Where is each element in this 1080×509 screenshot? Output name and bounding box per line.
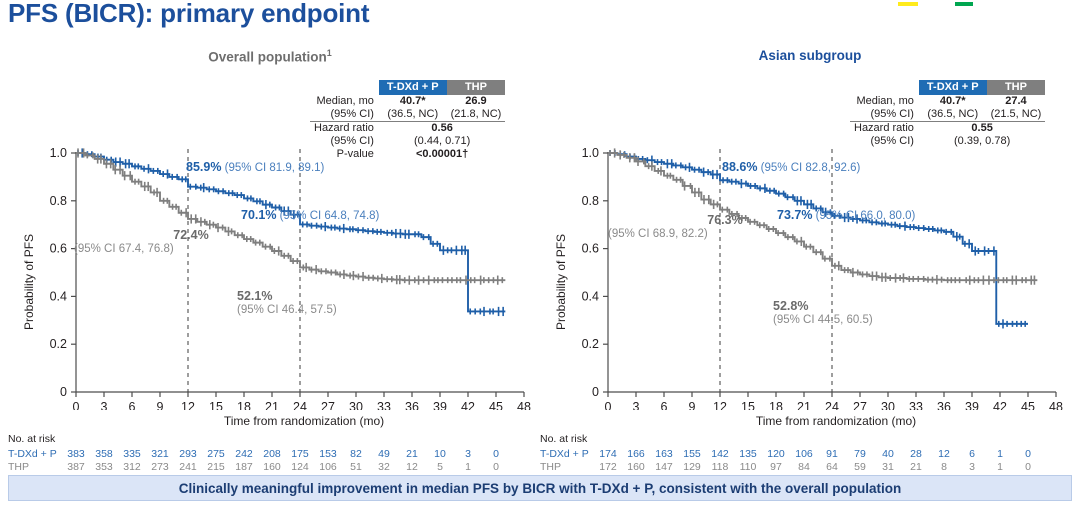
annotation-pct: 76.3%: [707, 213, 742, 227]
svg-text:0.6: 0.6: [582, 242, 599, 256]
svg-text:27: 27: [321, 400, 335, 410]
annotation-24mo-thp-ci-right: (95% CI 44.5, 60.5): [773, 314, 873, 326]
svg-text:48: 48: [517, 400, 531, 410]
svg-text:15: 15: [209, 400, 223, 410]
stats-value-median-ci-a: (36.5, NC): [919, 108, 987, 122]
svg-text:33: 33: [377, 400, 391, 410]
risk-cell: 1: [989, 448, 1011, 460]
risk-cell: 31: [877, 461, 899, 473]
risk-cell: 273: [149, 461, 171, 473]
annotation-pct: 85.9%: [186, 160, 221, 174]
risk-cell: 275: [205, 448, 227, 460]
risk-cell: 142: [709, 448, 731, 460]
svg-text:27: 27: [853, 400, 867, 410]
risk-cell: 21: [401, 448, 423, 460]
risk-cell: 208: [261, 448, 283, 460]
svg-text:39: 39: [433, 400, 447, 410]
panel-title-overall-sup: 1: [327, 48, 332, 58]
risk-cell: 6: [961, 448, 983, 460]
stats-header-row: T-DXd + P THP: [310, 80, 505, 95]
page-title: PFS (BICR): primary endpoint: [8, 0, 369, 29]
svg-text:0.8: 0.8: [50, 194, 67, 208]
stats-header-arm-a: T-DXd + P: [379, 80, 447, 95]
svg-text:3: 3: [101, 400, 108, 410]
risk-cell: 187: [233, 461, 255, 473]
risk-cell: 10: [429, 448, 451, 460]
svg-text:21: 21: [797, 400, 811, 410]
risk-cell: 5: [429, 461, 451, 473]
risk-table-title: No. at risk: [8, 433, 540, 445]
risk-table-overall: No. at risk T-DXd + P THP 38335833532129…: [8, 433, 540, 445]
risk-cell: 8: [933, 461, 955, 473]
annotation-12mo-thp-ci-right: (95% CI 68.9, 82.2): [608, 228, 708, 240]
annotation-12mo-tdxd-left: 85.9% (95% CI 81.9, 89.1): [186, 160, 324, 174]
y-axis-label-right: Probability of PFS: [554, 234, 568, 330]
svg-text:0.6: 0.6: [50, 242, 67, 256]
annotation-pct: 52.1%: [237, 289, 272, 303]
stats-label-median-ci: (95% CI): [850, 108, 919, 122]
annotation-12mo-thp-right: 76.3%: [680, 213, 770, 227]
risk-cell: 163: [653, 448, 675, 460]
yellow-mark: [898, 2, 918, 6]
stats-label-median-ci: (95% CI): [310, 108, 379, 122]
svg-text:36: 36: [405, 400, 419, 410]
risk-cell: 135: [737, 448, 759, 460]
svg-text:45: 45: [489, 400, 503, 410]
annotation-ci: (95% CI 67.4, 76.8): [74, 243, 174, 255]
stats-header-arm-a: T-DXd + P: [919, 80, 987, 95]
risk-cell: 120: [765, 448, 787, 460]
risk-cell: 215: [205, 461, 227, 473]
svg-text:36: 36: [937, 400, 951, 410]
svg-text:30: 30: [349, 400, 363, 410]
stats-header-spacer: [310, 80, 379, 95]
risk-cell: 12: [933, 448, 955, 460]
annotation-ci: (95% CI 64.8, 74.8): [280, 210, 380, 222]
svg-text:6: 6: [661, 400, 668, 410]
svg-text:9: 9: [157, 400, 164, 410]
stats-row-hazard: Hazard ratio 0.55: [850, 122, 1045, 136]
svg-text:0.4: 0.4: [582, 289, 599, 303]
svg-text:0.2: 0.2: [582, 337, 599, 351]
svg-text:42: 42: [993, 400, 1007, 410]
slide-root: PFS (BICR): primary endpoint Overall pop…: [0, 0, 1080, 509]
annotation-pct: 88.6%: [722, 160, 757, 174]
stats-value-median-a: 40.7*: [919, 95, 987, 108]
y-axis-label-left: Probability of PFS: [22, 234, 36, 330]
risk-cell: 160: [261, 461, 283, 473]
svg-text:18: 18: [769, 400, 783, 410]
panel-title-overall-text: Overall population: [208, 50, 327, 65]
stats-value-median-ci-b: (21.8, NC): [447, 108, 506, 122]
stats-value-median-b: 26.9: [447, 95, 506, 108]
chart-overall-population: 1.00.80.60.40.20036912151821242730333639…: [0, 140, 540, 415]
risk-cell: 174: [597, 448, 619, 460]
annotation-24mo-thp-ci-left: (95% CI 46.4, 57.5): [237, 304, 337, 316]
svg-text:6: 6: [129, 400, 136, 410]
risk-cell: 28: [905, 448, 927, 460]
risk-cell: 153: [317, 448, 339, 460]
risk-cell: 97: [765, 461, 787, 473]
annotation-ci: (95% CI 82.8, 92.6): [761, 162, 861, 174]
svg-text:9: 9: [689, 400, 696, 410]
stats-value-median-b: 27.4: [987, 95, 1046, 108]
risk-cell: 64: [821, 461, 843, 473]
risk-cell: 0: [485, 448, 507, 460]
km-plot-overall: 1.00.80.60.40.20036912151821242730333639…: [0, 140, 540, 410]
stats-header-arm-b: THP: [987, 80, 1046, 95]
risk-cell: 293: [177, 448, 199, 460]
risk-cell: 40: [877, 448, 899, 460]
annotation-12mo-thp-left: 72.4%: [146, 228, 236, 242]
risk-cell: 175: [289, 448, 311, 460]
annotation-12mo-tdxd-right: 88.6% (95% CI 82.8, 92.6): [722, 160, 860, 174]
risk-cell: 242: [233, 448, 255, 460]
risk-cell: 91: [821, 448, 843, 460]
svg-text:1.0: 1.0: [582, 146, 599, 160]
risk-cell: 79: [849, 448, 871, 460]
risk-cell: 241: [177, 461, 199, 473]
svg-text:0: 0: [73, 400, 80, 410]
annotation-pct: 72.4%: [173, 228, 208, 242]
stats-row-median: Median, mo 40.7* 26.9: [310, 95, 505, 108]
svg-text:24: 24: [293, 400, 307, 410]
risk-cell: 51: [345, 461, 367, 473]
risk-cell: 387: [65, 461, 87, 473]
risk-table-asian: No. at risk T-DXd + P THP 17416616315514…: [540, 433, 1072, 445]
panel-title-overall: Overall population1: [120, 48, 420, 65]
risk-cell: 353: [93, 461, 115, 473]
annotation-ci: (95% CI 81.9, 89.1): [225, 162, 325, 174]
risk-cell: 0: [485, 461, 507, 473]
annotation-24mo-tdxd-left: 70.1% (95% CI 64.8, 74.8): [241, 208, 379, 222]
risk-cell: 32: [373, 461, 395, 473]
svg-text:0.4: 0.4: [50, 289, 67, 303]
risk-cell: 59: [849, 461, 871, 473]
stats-value-hazard: 0.56: [379, 122, 505, 136]
svg-text:3: 3: [633, 400, 640, 410]
risk-cell: 172: [597, 461, 619, 473]
risk-cell: 1: [989, 461, 1011, 473]
risk-cell: 358: [93, 448, 115, 460]
risk-cell: 12: [401, 461, 423, 473]
risk-cell: 160: [625, 461, 647, 473]
risk-cell: 129: [681, 461, 703, 473]
risk-cell: 21: [905, 461, 927, 473]
risk-cell: 110: [737, 461, 759, 473]
risk-cell: 0: [1017, 448, 1039, 460]
risk-row-label-thp: THP: [8, 461, 29, 473]
risk-cell: 155: [681, 448, 703, 460]
annotation-ci: (95% CI 68.9, 82.2): [608, 228, 708, 240]
stats-label-median: Median, mo: [850, 95, 919, 108]
stats-label-hazard: Hazard ratio: [310, 122, 379, 136]
risk-cell: 0: [1017, 461, 1039, 473]
svg-text:18: 18: [237, 400, 251, 410]
annotation-24mo-thp-left: 52.1%: [237, 289, 272, 303]
risk-cell: 312: [121, 461, 143, 473]
svg-text:30: 30: [881, 400, 895, 410]
risk-cell: 1: [457, 461, 479, 473]
stats-value-median-ci-a: (36.5, NC): [379, 108, 447, 122]
risk-cell: 84: [793, 461, 815, 473]
risk-cell: 147: [653, 461, 675, 473]
stats-value-hazard: 0.55: [919, 122, 1045, 136]
svg-text:48: 48: [1049, 400, 1063, 410]
footer-banner: Clinically meaningful improvement in med…: [8, 475, 1072, 501]
risk-row-label-tdxd: T-DXd + P: [8, 448, 57, 460]
stats-value-median-ci-b: (21.5, NC): [987, 108, 1046, 122]
svg-text:45: 45: [1021, 400, 1035, 410]
svg-text:12: 12: [713, 400, 727, 410]
stats-table: T-DXd + P THP Median, mo 40.7* 27.4 (95%…: [850, 80, 1045, 148]
svg-text:0: 0: [592, 385, 599, 399]
chart-asian-subgroup: 1.00.80.60.40.20036912151821242730333639…: [532, 140, 1072, 415]
risk-cell: 3: [961, 461, 983, 473]
risk-cell: 335: [121, 448, 143, 460]
annotation-ci: (95% CI 46.4, 57.5): [237, 304, 337, 316]
stats-row-median-ci: (95% CI) (36.5, NC) (21.5, NC): [850, 108, 1045, 122]
annotation-12mo-thp-ci-left: (95% CI 67.4, 76.8): [74, 243, 174, 255]
risk-cell: 3: [457, 448, 479, 460]
annotation-pct: 73.7%: [777, 208, 812, 222]
risk-cell: 49: [373, 448, 395, 460]
risk-cell: 383: [65, 448, 87, 460]
svg-text:12: 12: [181, 400, 195, 410]
annotation-ci: (95% CI 66.0, 80.0): [816, 210, 916, 222]
stats-header-spacer: [850, 80, 919, 95]
risk-cell: 82: [345, 448, 367, 460]
stats-row-median-ci: (95% CI) (36.5, NC) (21.8, NC): [310, 108, 505, 122]
risk-cell: 118: [709, 461, 731, 473]
risk-table-title: No. at risk: [540, 433, 1072, 445]
x-axis-label-right: Time from randomization (mo): [608, 414, 1064, 428]
annotation-24mo-tdxd-right: 73.7% (95% CI 66.0, 80.0): [777, 208, 915, 222]
svg-text:39: 39: [965, 400, 979, 410]
risk-cell: 166: [625, 448, 647, 460]
annotation-pct: 70.1%: [241, 208, 276, 222]
svg-text:0: 0: [60, 385, 67, 399]
x-axis-label-left: Time from randomization (mo): [76, 414, 532, 428]
annotation-24mo-thp-right: 52.8%: [773, 299, 808, 313]
green-mark: [955, 2, 973, 6]
risk-row-label-thp: THP: [540, 461, 561, 473]
svg-text:0.8: 0.8: [582, 194, 599, 208]
svg-text:1.0: 1.0: [50, 146, 67, 160]
stats-value-median-a: 40.7*: [379, 95, 447, 108]
svg-text:0: 0: [605, 400, 612, 410]
risk-cell: 106: [793, 448, 815, 460]
svg-text:42: 42: [461, 400, 475, 410]
svg-text:33: 33: [909, 400, 923, 410]
risk-cell: 321: [149, 448, 171, 460]
stats-label-median: Median, mo: [310, 95, 379, 108]
annotation-pct: 52.8%: [773, 299, 808, 313]
panel-title-asian: Asian subgroup: [660, 48, 960, 63]
risk-cell: 124: [289, 461, 311, 473]
svg-text:0.2: 0.2: [50, 337, 67, 351]
footer-banner-text: Clinically meaningful improvement in med…: [179, 481, 901, 496]
stats-row-median: Median, mo 40.7* 27.4: [850, 95, 1045, 108]
km-plot-asian: 1.00.80.60.40.20036912151821242730333639…: [532, 140, 1072, 410]
risk-cell: 106: [317, 461, 339, 473]
stats-header-row: T-DXd + P THP: [850, 80, 1045, 95]
stats-label-hazard: Hazard ratio: [850, 122, 919, 136]
svg-text:15: 15: [741, 400, 755, 410]
panel-title-asian-text: Asian subgroup: [759, 48, 862, 63]
svg-text:24: 24: [825, 400, 839, 410]
svg-text:21: 21: [265, 400, 279, 410]
annotation-ci: (95% CI 44.5, 60.5): [773, 314, 873, 326]
risk-row-label-tdxd: T-DXd + P: [540, 448, 589, 460]
stats-header-arm-b: THP: [447, 80, 506, 95]
stats-row-hazard: Hazard ratio 0.56: [310, 122, 505, 136]
stats-table-asian: T-DXd + P THP Median, mo 40.7* 27.4 (95%…: [850, 80, 1045, 148]
